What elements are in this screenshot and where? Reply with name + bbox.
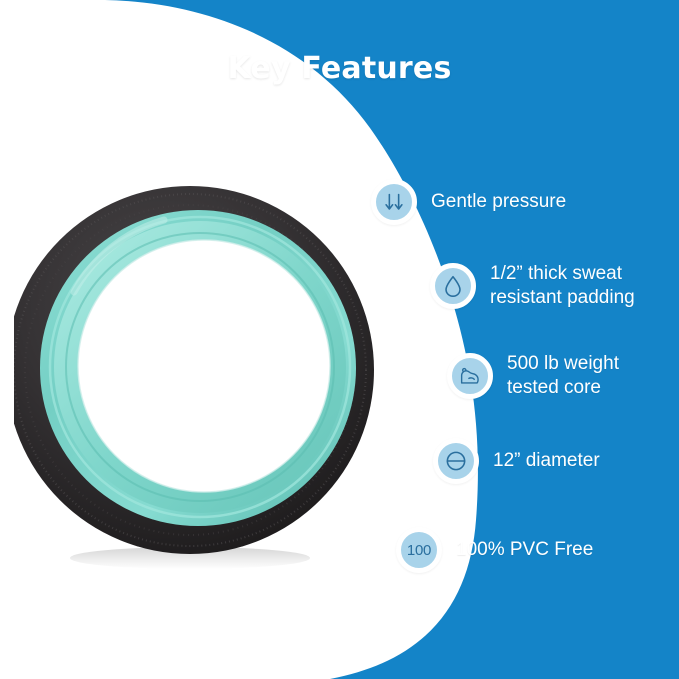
feature-label: 12” diameter <box>493 449 600 473</box>
key-features-infographic: Key Features Gentle pressure 1/2” thick … <box>0 0 679 679</box>
hundred-badge-text: 100 <box>407 543 431 558</box>
feature-item-diameter: 12” diameter <box>433 438 600 484</box>
circle-diameter-icon <box>433 438 479 484</box>
wheel-center-hole <box>78 240 330 492</box>
water-droplet-icon <box>430 263 476 309</box>
feature-label: 100% PVC Free <box>456 538 593 562</box>
feature-item-sweat-resistant-padding: 1/2” thick sweat resistant padding <box>430 262 635 310</box>
feature-item-pvc-free: 100 100% PVC Free <box>396 527 593 573</box>
feature-label: 500 lb weight tested core <box>507 352 619 400</box>
yoga-wheel-product-image <box>14 172 382 572</box>
feature-label: Gentle pressure <box>431 190 566 214</box>
feature-item-weight-tested-core: 500 lb weight tested core <box>447 352 619 400</box>
flexed-bicep-icon <box>447 353 493 399</box>
hundred-badge-icon: 100 <box>396 527 442 573</box>
feature-label: 1/2” thick sweat resistant padding <box>490 262 635 310</box>
double-down-arrow-icon <box>371 179 417 225</box>
feature-item-gentle-pressure: Gentle pressure <box>371 179 566 225</box>
page-title: Key Features <box>0 51 679 86</box>
